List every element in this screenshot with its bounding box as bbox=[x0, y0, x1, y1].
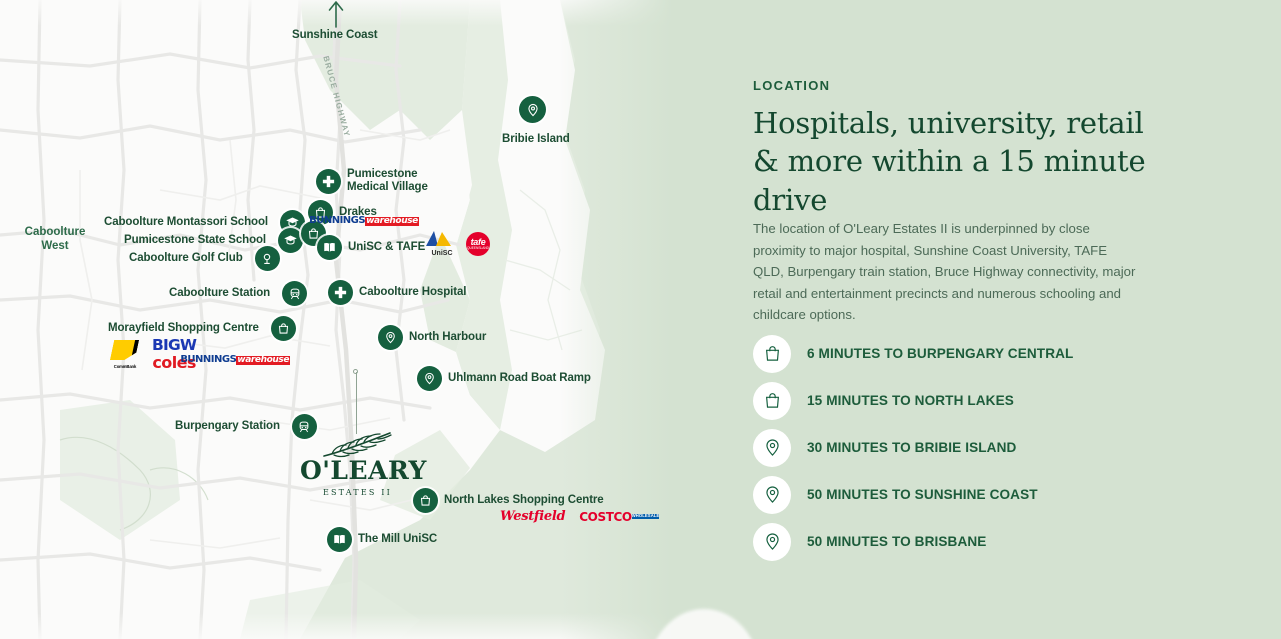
shopping-bag-icon bbox=[271, 316, 296, 341]
poi-unisc-tafe[interactable]: UniSC & TAFE bbox=[317, 235, 425, 260]
poi-bribie-island[interactable]: Bribie Island bbox=[502, 133, 570, 146]
poi-label: Burpengary Station bbox=[175, 420, 280, 433]
shopping-bag-icon bbox=[753, 382, 791, 420]
train-icon bbox=[282, 281, 307, 306]
poi-label: Sunshine Coast bbox=[292, 29, 378, 42]
golf-icon bbox=[255, 246, 280, 271]
bunnings-logo-morayfield: BUNNINGS warehouse bbox=[206, 355, 264, 365]
map-pin-icon bbox=[378, 325, 403, 350]
map-pin-icon-bribie-island[interactable] bbox=[519, 96, 546, 123]
distance-item-sunshine-coast[interactable]: 50 MINUTES TO SUNSHINE COAST bbox=[753, 471, 1173, 518]
distance-label: 15 MINUTES TO NORTH LAKES bbox=[807, 393, 1014, 408]
poi-pumicestone-medical-village[interactable]: Pumicestone Medical Village bbox=[316, 168, 428, 194]
logo-row-north-lakes: Westfield COSTCO WHOLESALE bbox=[500, 510, 659, 523]
commonwealth-bank-logo: CommBank bbox=[108, 339, 142, 369]
poi-north-harbour[interactable]: North Harbour bbox=[378, 325, 486, 350]
poi-caboolture-station[interactable]: Caboolture Station bbox=[169, 281, 307, 306]
shopping-bag-icon bbox=[753, 335, 791, 373]
map-pin-icon bbox=[417, 366, 442, 391]
estate-leader-line bbox=[356, 372, 357, 434]
page-title: Hospitals, university, retail & more wit… bbox=[753, 104, 1153, 219]
book-icon bbox=[317, 235, 342, 260]
poi-label: Caboolture Golf Club bbox=[129, 252, 243, 265]
distance-label: 50 MINUTES TO SUNSHINE COAST bbox=[807, 487, 1038, 502]
poi-burpengary-station[interactable]: Burpengary Station bbox=[175, 414, 317, 439]
distance-item-brisbane[interactable]: 50 MINUTES TO BRISBANE bbox=[753, 518, 1173, 565]
poi-label: Uhlmann Road Boat Ramp bbox=[448, 372, 591, 385]
costco-logo: COSTCO WHOLESALE bbox=[579, 511, 659, 523]
westfield-logo: Westfield bbox=[500, 510, 565, 523]
eyebrow-label: LOCATION bbox=[753, 78, 830, 93]
poi-label: UniSC & TAFE bbox=[348, 241, 425, 254]
logo-row-morayfield: CommBank BIGW coles BUNNINGS warehouse bbox=[108, 338, 264, 371]
map-pin-icon bbox=[753, 476, 791, 514]
poi-label: The Mill UniSC bbox=[358, 533, 437, 546]
poi-caboolture-hospital[interactable]: Caboolture Hospital bbox=[328, 280, 466, 305]
book-icon bbox=[327, 527, 352, 552]
distance-label: 30 MINUTES TO BRIBIE ISLAND bbox=[807, 440, 1016, 455]
estate-logo: O'LEARY ESTATES II bbox=[300, 430, 415, 497]
poi-label: Caboolture Station bbox=[169, 287, 270, 300]
logo-row-drakes-precinct: BUNNINGS warehouse bbox=[335, 216, 393, 226]
poi-label: North Harbour bbox=[409, 331, 486, 344]
distance-label: 50 MINUTES TO BRISBANE bbox=[807, 534, 986, 549]
poi-the-mill-unisc[interactable]: The Mill UniSC bbox=[327, 527, 437, 552]
map-pin-icon bbox=[753, 523, 791, 561]
unisc-logo: UniSC bbox=[425, 231, 459, 257]
description-paragraph: The location of O'Leary Estates II is un… bbox=[753, 218, 1138, 326]
medical-cross-icon bbox=[328, 280, 353, 305]
poi-label: Morayfield Shopping Centre bbox=[108, 322, 259, 335]
poi-sunshine-coast[interactable]: Sunshine Coast bbox=[292, 29, 378, 42]
distance-label: 6 MINUTES TO BURPENGARY CENTRAL bbox=[807, 346, 1073, 361]
poi-label: Caboolture Hospital bbox=[359, 286, 466, 299]
bunnings-logo: BUNNINGS warehouse bbox=[335, 216, 393, 226]
poi-label: Bribie Island bbox=[502, 133, 570, 146]
distance-item-burpengary-central[interactable]: 6 MINUTES TO BURPENGARY CENTRAL bbox=[753, 330, 1173, 377]
poi-caboolture-golf-club[interactable]: Caboolture Golf Club bbox=[129, 246, 280, 271]
map-pin-icon bbox=[753, 429, 791, 467]
distance-item-bribie-island[interactable]: 30 MINUTES TO BRIBIE ISLAND bbox=[753, 424, 1173, 471]
estate-name: O'LEARY bbox=[300, 458, 415, 483]
info-panel: LOCATION Hospitals, university, retail &… bbox=[753, 0, 1173, 639]
poi-label: Pumicestone Medical Village bbox=[347, 168, 428, 194]
estate-subtitle: ESTATES II bbox=[300, 488, 415, 497]
bigw-logo: BIGW bbox=[152, 338, 196, 354]
medical-cross-icon bbox=[316, 169, 341, 194]
location-map-slide: BRUCE HIGHWAY Caboolture West Sunshine C… bbox=[0, 0, 1281, 639]
tafe-logo: tafe QUEENSLAND bbox=[466, 232, 490, 256]
distance-list: 6 MINUTES TO BURPENGARY CENTRAL 15 MINUT… bbox=[753, 330, 1173, 565]
sprig-icon bbox=[300, 430, 415, 458]
shopping-bag-icon bbox=[413, 488, 438, 513]
logo-row-unisc-tafe: UniSC tafe QUEENSLAND bbox=[425, 231, 490, 257]
poi-label: North Lakes Shopping Centre bbox=[444, 494, 604, 507]
distance-item-north-lakes[interactable]: 15 MINUTES TO NORTH LAKES bbox=[753, 377, 1173, 424]
map-panel[interactable]: BRUCE HIGHWAY Caboolture West Sunshine C… bbox=[0, 0, 700, 639]
graduation-cap-icon bbox=[278, 228, 303, 253]
poi-uhlmann-road-boat-ramp[interactable]: Uhlmann Road Boat Ramp bbox=[417, 366, 591, 391]
placename-caboolture-west: Caboolture West bbox=[14, 226, 96, 254]
